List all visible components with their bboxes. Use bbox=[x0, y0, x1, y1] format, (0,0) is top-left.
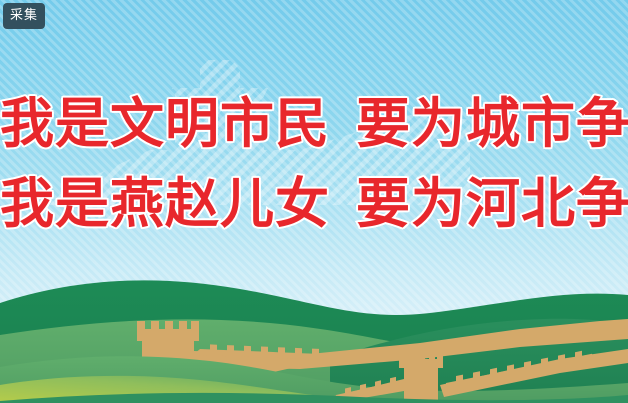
slogan-line-2-left: 我是燕赵儿女 bbox=[0, 172, 330, 235]
slogan-line-1-right: 要为城市争光 bbox=[356, 92, 628, 155]
slogan-line-2-right: 要为河北争气 bbox=[356, 172, 628, 235]
slogan-line-2: 我是燕赵儿女要为河北争气 bbox=[0, 164, 628, 244]
poster-banner: 我是文明市民要为城市争光 我是燕赵儿女要为河北争气 bbox=[0, 0, 628, 403]
landscape-illustration bbox=[0, 263, 628, 403]
slogan-line-1-left: 我是文明市民 bbox=[0, 92, 330, 155]
capture-button[interactable]: 采集 bbox=[3, 3, 45, 29]
slogan-text-block: 我是文明市民要为城市争光 我是燕赵儿女要为河北争气 bbox=[0, 84, 628, 244]
slogan-line-1: 我是文明市民要为城市争光 bbox=[0, 84, 628, 164]
